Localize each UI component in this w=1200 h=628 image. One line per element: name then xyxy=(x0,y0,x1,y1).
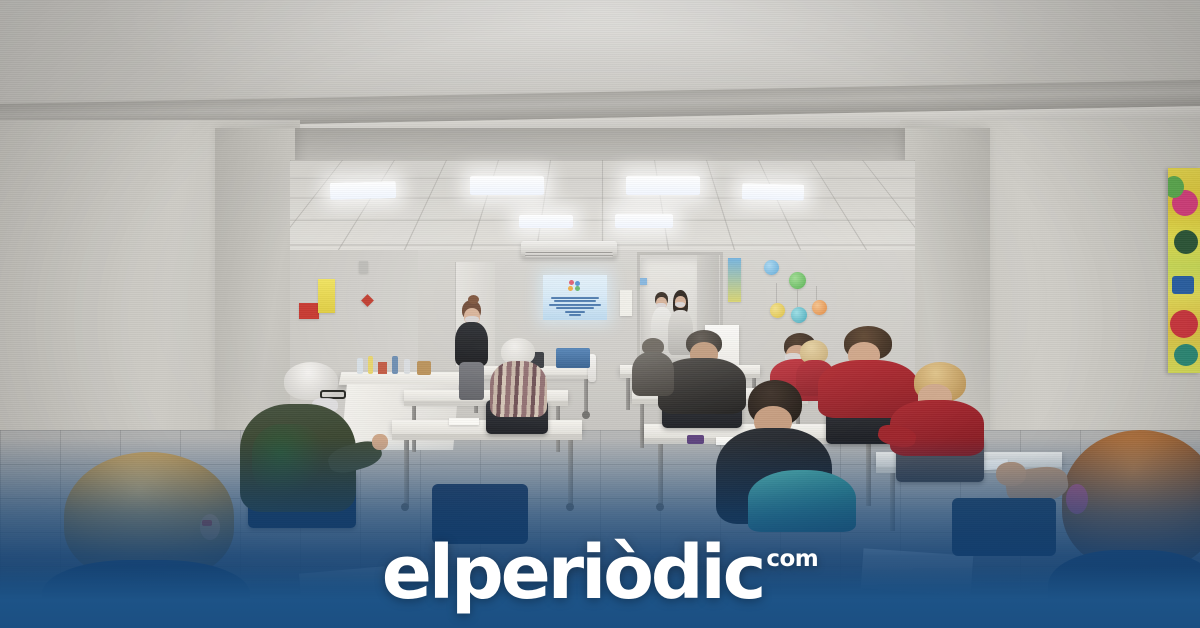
elder-man-sweater-pattern xyxy=(252,424,324,496)
table-front-left-leg-2 xyxy=(568,440,573,506)
presenter-bun-icon xyxy=(468,295,479,304)
table-front-right-leg-2 xyxy=(866,444,871,506)
table-back-left-leg-2 xyxy=(584,379,588,413)
collage-string-left xyxy=(776,283,777,303)
attendee-ginger-fg xyxy=(1048,430,1200,628)
table-back-left-caster xyxy=(582,411,590,419)
led-panel-center-front xyxy=(519,215,573,228)
table-far-right-leg-1 xyxy=(890,473,895,531)
circle-poster-blue xyxy=(764,260,779,275)
led-panel-right-front xyxy=(615,214,673,228)
air-conditioner-vent xyxy=(525,252,613,257)
paper-sheet-a xyxy=(449,418,479,425)
table-front-left-leg-1 xyxy=(404,440,409,506)
ginger-fg-pink-clip-icon xyxy=(1066,484,1088,514)
poster-blob-red xyxy=(1170,310,1198,338)
attendee-red-curly xyxy=(888,362,988,452)
collage-string-mid xyxy=(797,289,798,307)
attendee-man-dark-secondary xyxy=(630,338,674,394)
table-front-left-edge xyxy=(392,434,582,440)
poster-blob-blue xyxy=(1172,276,1194,294)
led-panel-center-back xyxy=(470,176,544,195)
table-front-left-caster-2 xyxy=(566,503,574,511)
red-poster xyxy=(299,303,319,319)
circle-poster-teal xyxy=(791,307,807,323)
led-panel-far-right xyxy=(742,183,804,200)
poster-blob-dark xyxy=(1174,230,1198,254)
attendee-teal-scarf xyxy=(748,470,856,532)
circle-poster-green xyxy=(789,272,806,289)
attendee-white-hair xyxy=(487,338,549,416)
projected-slide xyxy=(543,275,607,320)
counter-item-bag xyxy=(417,361,431,375)
purple-phone xyxy=(687,435,704,444)
white-hair-torso xyxy=(490,361,547,417)
yellow-poster xyxy=(318,279,335,313)
ginger-fg-hand xyxy=(996,462,1026,486)
table-front-right-caster xyxy=(656,503,664,511)
ceiling-soffit xyxy=(215,128,990,164)
circle-poster-orange xyxy=(812,300,827,315)
elder-man-hand xyxy=(372,434,388,450)
blonde-fg-ear-detail xyxy=(200,514,220,540)
led-panel-right-back xyxy=(626,176,700,195)
white-wall-sign xyxy=(620,290,632,316)
counter-item-box xyxy=(378,362,387,374)
news-photo-stage: elperiòdic com xyxy=(0,0,1200,628)
table-front-left-caster-1 xyxy=(401,503,409,511)
presenter-lower-body xyxy=(459,362,484,400)
chair-foreground-center xyxy=(432,484,528,544)
classroom-scene xyxy=(0,0,1200,628)
blue-crate xyxy=(556,348,590,368)
chair-foreground-right xyxy=(952,498,1056,556)
counter-item-bottle-c xyxy=(392,356,398,374)
poster-blob-teal xyxy=(1174,344,1198,366)
right-wall-poster-small xyxy=(728,258,741,302)
attendee-blonde-fg xyxy=(42,452,252,628)
doorway-b-mask-icon xyxy=(675,302,685,307)
blonde-fg-torso xyxy=(42,560,250,628)
ginger-fg-torso xyxy=(1048,550,1200,628)
collage-string-right xyxy=(816,286,817,300)
small-blue-sign xyxy=(640,278,647,285)
small-grey-note xyxy=(359,261,368,273)
slide-logo-icon xyxy=(566,280,584,292)
circle-poster-yellow xyxy=(770,303,785,318)
led-panel-left xyxy=(330,181,396,200)
table-front-right-leg-1 xyxy=(658,444,663,506)
counter-item-bottle-d xyxy=(404,359,410,374)
blonde-fg-earring-icon xyxy=(202,520,212,526)
slide-text-lines xyxy=(546,297,604,316)
attendee-elder-man xyxy=(236,362,376,532)
corridor-poster xyxy=(1168,168,1200,373)
man-dark-2-torso xyxy=(632,352,674,396)
